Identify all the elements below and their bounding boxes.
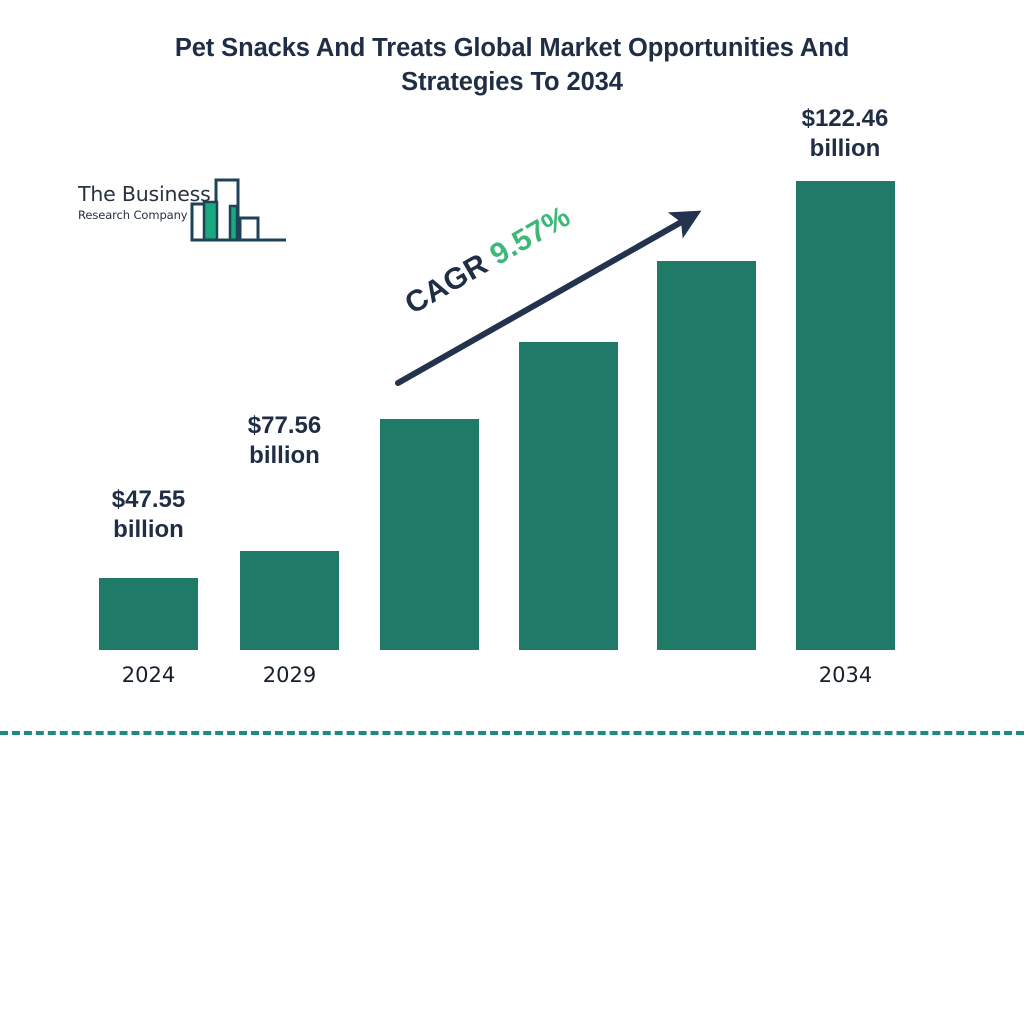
x-tick-label-2034: 2034 xyxy=(796,663,895,687)
footer-divider xyxy=(0,731,1024,735)
value-label-2024: $47.55 billion xyxy=(86,485,211,545)
x-tick-label-2024: 2024 xyxy=(99,663,198,687)
bar-2 xyxy=(240,551,339,650)
value-amount-2029: $77.56 xyxy=(248,412,321,439)
value-amount-2034: $122.46 xyxy=(802,105,889,132)
value-unit-2029: billion xyxy=(222,441,347,471)
chart-canvas: Pet Snacks And Treats Global Market Oppo… xyxy=(0,0,1024,768)
bar-2029 xyxy=(380,419,479,650)
value-label-2029: $77.56 billion xyxy=(222,411,347,471)
value-amount-2024: $47.55 xyxy=(112,486,185,513)
bar-2034 xyxy=(796,181,895,650)
bar-2024 xyxy=(99,578,198,650)
value-unit-2034: billion xyxy=(766,134,924,164)
value-label-2034: $122.46 billion xyxy=(766,104,924,164)
value-unit-2024: billion xyxy=(86,515,211,545)
x-tick-label-2029: 2029 xyxy=(240,663,339,687)
